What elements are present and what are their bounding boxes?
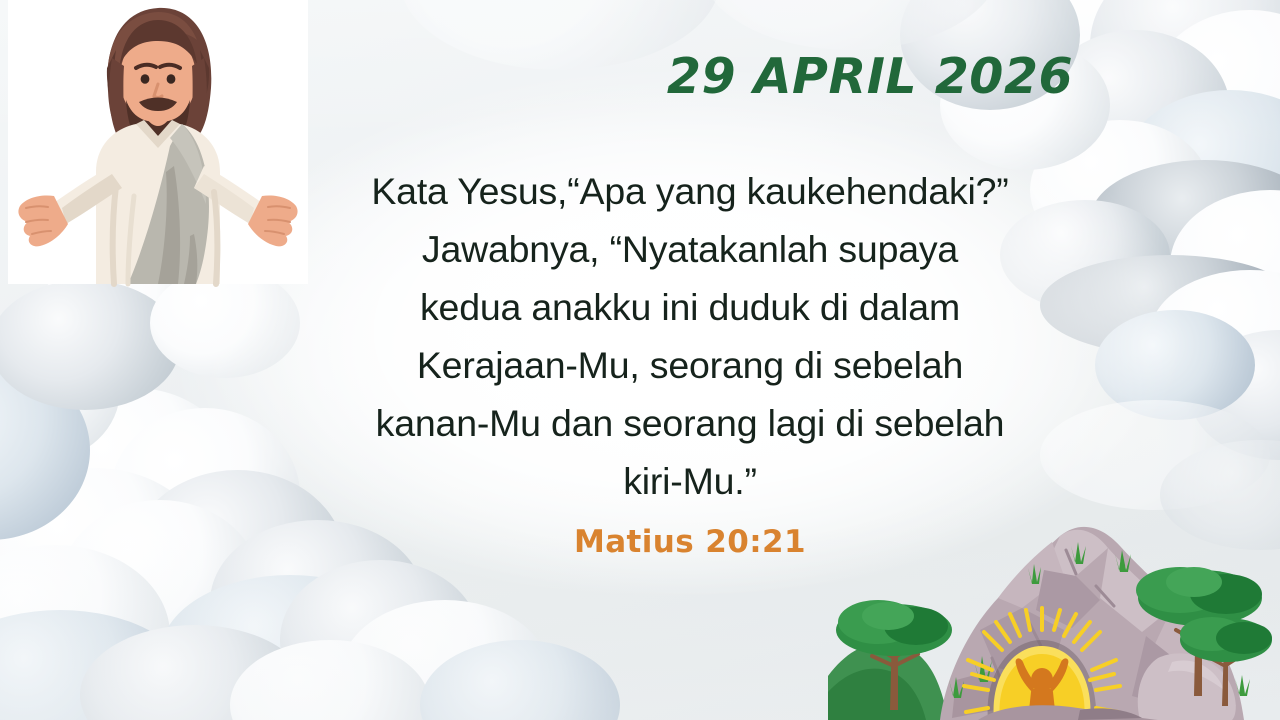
date-heading: 29 APRIL 2026: [640, 52, 1100, 101]
verse-text: Kata Yesus,“Apa yang kaukehendaki?” Jawa…: [300, 162, 1080, 510]
verse-line-5: kanan-Mu dan seorang lagi di sebelah: [300, 394, 1080, 452]
verse-line-2: Jawabnya, “Nyatakanlah supaya: [300, 220, 1080, 278]
jesus-open-arms-illustration: [8, 0, 308, 288]
verse-line-4: Kerajaan-Mu, seorang di sebelah: [300, 336, 1080, 394]
empty-tomb-mountain-illustration: [828, 480, 1280, 720]
scripture-slide: 29 APRIL 2026 Kata Yesus,“Apa yang kauke…: [0, 0, 1280, 720]
scripture-reference: Matius 20:21: [300, 524, 1080, 560]
verse-line-6: kiri-Mu.”: [300, 452, 1080, 510]
verse-line-3: kedua anakku ini duduk di dalam: [300, 278, 1080, 336]
verse-line-1: Kata Yesus,“Apa yang kaukehendaki?”: [300, 162, 1080, 220]
